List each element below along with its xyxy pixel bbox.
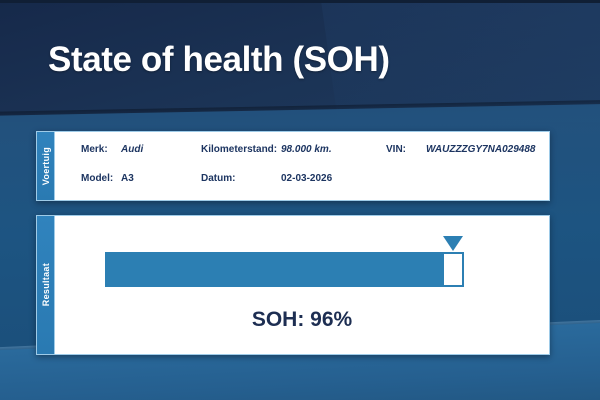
field-vin: VIN: WAUZZZGY7NA029488 bbox=[386, 144, 546, 155]
merk-label: Merk: bbox=[81, 144, 121, 155]
tab-resultaat-label: Resultaat bbox=[41, 263, 51, 306]
tab-voertuig-label: Voertuig bbox=[41, 147, 51, 185]
background-band-shadow bbox=[0, 99, 600, 122]
soh-gauge-marker-triangle-icon bbox=[443, 236, 463, 251]
vehicle-info-grid: Merk: Audi Kilometerstand: 98.000 km. VI… bbox=[55, 132, 549, 200]
field-kilometerstand: Kilometerstand: 98.000 km. bbox=[201, 144, 386, 155]
merk-value: Audi bbox=[121, 144, 143, 155]
slide-canvas: State of health (SOH) Voertuig Merk: Aud… bbox=[0, 0, 600, 400]
model-value: A3 bbox=[121, 173, 134, 184]
field-model: Model: A3 bbox=[81, 173, 201, 184]
tab-voertuig[interactable]: Voertuig bbox=[36, 131, 54, 201]
page-title: State of health (SOH) bbox=[48, 40, 390, 80]
model-label: Model: bbox=[81, 173, 121, 184]
soh-gauge-notch bbox=[442, 252, 464, 287]
field-merk: Merk: Audi bbox=[81, 144, 201, 155]
datum-label: Datum: bbox=[201, 173, 281, 184]
soh-value-label: SOH: 96% bbox=[55, 308, 549, 332]
vin-label: VIN: bbox=[386, 144, 426, 155]
field-datum: Datum: 02-03-2026 bbox=[201, 173, 386, 184]
datum-value: 02-03-2026 bbox=[281, 173, 332, 184]
background-top-edge-line bbox=[0, 0, 600, 3]
vin-value: WAUZZZGY7NA029488 bbox=[426, 144, 535, 155]
kilometerstand-label: Kilometerstand: bbox=[201, 144, 281, 155]
soh-gauge bbox=[105, 252, 479, 287]
vehicle-info-row: Merk: Audi Kilometerstand: 98.000 km. VI… bbox=[55, 144, 549, 173]
result-panel-body: SOH: 96% bbox=[54, 215, 550, 355]
vehicle-info-panel: Voertuig Merk: Audi Kilometerstand: 98.0… bbox=[36, 131, 550, 201]
soh-gauge-fill bbox=[105, 252, 464, 287]
vehicle-panel-body: Merk: Audi Kilometerstand: 98.000 km. VI… bbox=[54, 131, 550, 201]
kilometerstand-value: 98.000 km. bbox=[281, 144, 332, 155]
result-panel: Resultaat SOH: 96% bbox=[36, 215, 550, 355]
tab-resultaat[interactable]: Resultaat bbox=[36, 215, 54, 355]
vehicle-info-row: Model: A3 Datum: 02-03-2026 bbox=[55, 173, 549, 202]
